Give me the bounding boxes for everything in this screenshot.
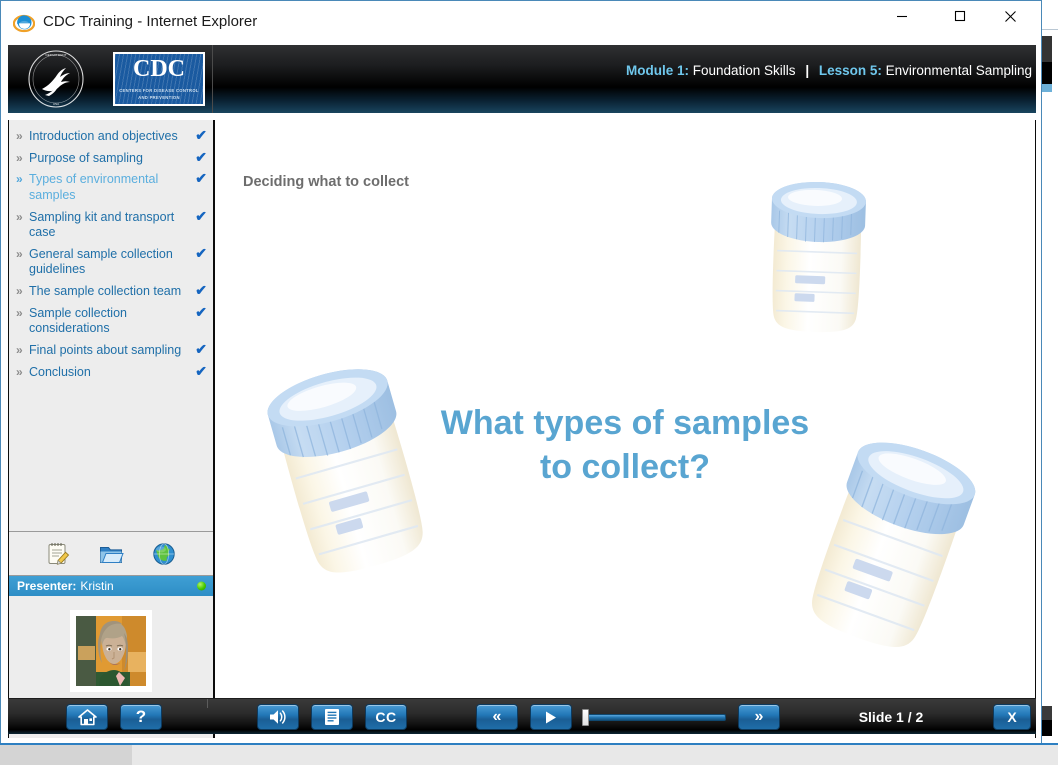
exit-label: X	[1007, 709, 1016, 725]
chevron-right-icon: »	[16, 210, 23, 225]
sidebar-item-label: Types of environmental samples	[29, 172, 187, 203]
course-banner: DEPARTMENT USA CDC CENTERS FOR DISEASE C…	[8, 45, 1036, 113]
sidebar-item-8[interactable]: »Conclusion✔	[9, 362, 213, 384]
chevron-right-icon: »	[16, 151, 23, 166]
sidebar-item-label: Final points about sampling	[29, 343, 187, 359]
volume-button[interactable]	[257, 704, 299, 730]
progress-track	[584, 714, 726, 721]
completed-check-icon: ✔	[195, 209, 207, 223]
completed-check-icon: ✔	[195, 171, 207, 185]
sidebar-item-label: Conclusion	[29, 365, 187, 381]
maximize-button[interactable]	[937, 1, 983, 31]
sidebar-item-5[interactable]: »The sample collection team✔	[9, 281, 213, 303]
lesson-sidebar: »Introduction and objectives✔»Purpose of…	[9, 120, 214, 738]
chevron-right-icon: »	[16, 284, 23, 299]
home-button[interactable]	[66, 704, 108, 730]
resources-folder-icon[interactable]	[98, 541, 124, 567]
course-player: DEPARTMENT USA CDC CENTERS FOR DISEASE C…	[8, 45, 1036, 738]
presenter-bar: Presenter: Kristin	[9, 576, 213, 596]
cdc-logo-tagline: CENTERS FOR DISEASE CONTROL AND PREVENTI…	[117, 88, 201, 101]
sidebar-item-4[interactable]: »General sample collection guidelines✔	[9, 244, 213, 281]
presenter-name: Kristin	[80, 579, 113, 593]
presenter-label: Presenter:	[17, 579, 76, 593]
taskbar-segment	[0, 745, 132, 765]
sidebar-tool-row	[9, 532, 213, 576]
play-icon	[544, 710, 558, 725]
sidebar-item-label: Purpose of sampling	[29, 151, 187, 167]
sidebar-item-6[interactable]: »Sample collection considerations✔	[9, 303, 213, 340]
chevron-right-icon: »	[16, 247, 23, 262]
control-bar-divider	[207, 699, 208, 708]
web-links-globe-icon[interactable]	[151, 541, 177, 567]
cc-label: CC	[375, 709, 396, 725]
progress-slider[interactable]	[580, 711, 726, 723]
progress-handle[interactable]	[582, 709, 589, 726]
lesson-label: Lesson 5:	[819, 63, 882, 78]
module-name: Foundation Skills	[693, 63, 796, 78]
completed-check-icon: ✔	[195, 364, 207, 378]
svg-text:USA: USA	[53, 102, 60, 106]
window-title-bar: CDC Training - Internet Explorer	[1, 1, 1041, 45]
cdc-logo-word: CDC	[115, 57, 203, 81]
slide-stage: Deciding what to collect	[215, 120, 1035, 738]
exit-button[interactable]: X	[993, 704, 1031, 730]
headline-line-2: to collect?	[215, 446, 1035, 490]
closed-captions-button[interactable]: CC	[365, 704, 407, 730]
hhs-seal-icon: DEPARTMENT USA	[25, 49, 87, 109]
completed-check-icon: ✔	[195, 150, 207, 164]
chevron-right-icon: »	[16, 172, 23, 187]
headline-line-1: What types of samples	[215, 402, 1035, 446]
sidebar-item-label: General sample collection guidelines	[29, 247, 187, 278]
completed-check-icon: ✔	[195, 246, 207, 260]
module-lesson-heading: Module 1: Foundation Skills | Lesson 5: …	[626, 63, 1032, 78]
presenter-video-frame	[70, 610, 152, 692]
sidebar-item-label: Sampling kit and transport case	[29, 210, 187, 241]
help-icon: ?	[136, 707, 146, 727]
player-body: »Introduction and objectives✔»Purpose of…	[8, 120, 1036, 738]
previous-button[interactable]: «	[476, 704, 518, 730]
completed-check-icon: ✔	[195, 283, 207, 297]
slide-title: Deciding what to collect	[243, 174, 409, 190]
presenter-avatar	[76, 616, 146, 686]
close-window-button[interactable]	[987, 1, 1033, 31]
sidebar-item-label: Introduction and objectives	[29, 129, 187, 145]
chevron-right-icon: »	[16, 129, 23, 144]
internet-explorer-icon	[13, 12, 35, 34]
notes-icon[interactable]	[45, 541, 71, 567]
sidebar-item-3[interactable]: »Sampling kit and transport case✔	[9, 207, 213, 244]
sidebar-item-2[interactable]: »Types of environmental samples✔	[9, 169, 213, 206]
lesson-navigation-list: »Introduction and objectives✔»Purpose of…	[9, 120, 213, 532]
next-button[interactable]: »	[738, 704, 780, 730]
home-icon	[78, 709, 97, 726]
play-button[interactable]	[530, 704, 572, 730]
transcript-button[interactable]	[311, 704, 353, 730]
presenter-status-indicator	[197, 582, 206, 591]
help-button[interactable]: ?	[120, 704, 162, 730]
minimize-button[interactable]	[879, 1, 925, 31]
cdc-logo: CDC CENTERS FOR DISEASE CONTROL AND PREV…	[113, 52, 205, 106]
completed-check-icon: ✔	[195, 342, 207, 356]
browser-window: CDC Training - Internet Explorer	[0, 0, 1042, 744]
slide-headline: What types of samples to collect?	[215, 402, 1035, 489]
sidebar-item-label: The sample collection team	[29, 284, 187, 300]
svg-text:DEPARTMENT: DEPARTMENT	[45, 53, 66, 57]
sidebar-item-0[interactable]: »Introduction and objectives✔	[9, 126, 213, 148]
window-title: CDC Training - Internet Explorer	[43, 13, 257, 30]
heading-separator: |	[799, 63, 815, 78]
specimen-cup-top-icon	[751, 170, 883, 342]
module-label: Module 1:	[626, 63, 689, 78]
volume-icon	[268, 708, 289, 726]
player-control-bar: ?	[8, 698, 1036, 734]
sidebar-item-7[interactable]: »Final points about sampling✔	[9, 340, 213, 362]
completed-check-icon: ✔	[195, 128, 207, 142]
completed-check-icon: ✔	[195, 305, 207, 319]
banner-logos: DEPARTMENT USA CDC CENTERS FOR DISEASE C…	[8, 45, 213, 113]
previous-icon: «	[493, 708, 502, 726]
sidebar-item-1[interactable]: »Purpose of sampling✔	[9, 148, 213, 170]
slide-counter: Slide 1 / 2	[798, 709, 984, 725]
desktop-background: CDC Training - Internet Explorer	[0, 0, 1058, 765]
next-icon: »	[755, 708, 764, 726]
taskbar[interactable]	[0, 743, 1058, 765]
sidebar-item-label: Sample collection considerations	[29, 306, 187, 337]
chevron-right-icon: »	[16, 365, 23, 380]
chevron-right-icon: »	[16, 306, 23, 321]
transcript-icon	[324, 708, 340, 726]
chevron-right-icon: »	[16, 343, 23, 358]
lesson-name: Environmental Sampling	[886, 63, 1032, 78]
